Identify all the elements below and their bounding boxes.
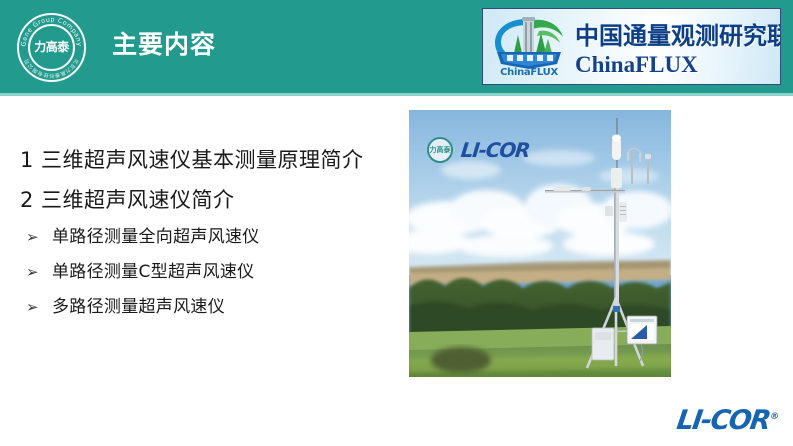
outline-item-3: ➢单路径测量全向超声风速仪 xyxy=(20,220,400,255)
arrow-bullet-icon: ➢ xyxy=(26,290,52,325)
chinaflux-banner: ChinaFLUX 中国通量观测研究联盟 ChinaFLUX xyxy=(482,8,781,85)
page-title: 主要内容 xyxy=(112,29,216,61)
chinaflux-chinese-title: 中国通量观测研究联盟 xyxy=(575,16,781,51)
outline-item-5: ➢多路径测量超声风速仪 xyxy=(20,290,400,325)
photo-licor-wordmark: LI-COR xyxy=(460,138,531,162)
header-underline xyxy=(0,93,793,96)
flux-tower-photo: 力高泰 LI-COR xyxy=(409,110,671,377)
outline-item-4-label: 单路径测量C型超声风速仪 xyxy=(52,262,254,282)
arrow-bullet-icon: ➢ xyxy=(26,255,52,290)
chinaflux-mark-label: ChinaFLUX xyxy=(487,67,571,78)
outline-item-4: ➢单路径测量C型超声风速仪 xyxy=(20,255,400,290)
outline-item-1: 1 三维超声风速仪基本测量原理简介 xyxy=(20,140,400,180)
seal-center-label: 力高泰 xyxy=(17,40,86,54)
licor-registered-mark: ® xyxy=(769,412,779,422)
photo-company-seal-icon: 力高泰 xyxy=(427,137,453,163)
photo-seal-label: 力高泰 xyxy=(429,146,451,154)
licor-logo-text: LI-COR xyxy=(675,405,772,436)
outline-list: 1 三维超声风速仪基本测量原理简介 2 三维超声风速仪简介 ➢单路径测量全向超声… xyxy=(20,140,400,325)
company-seal-icon: Gene Group Company 北京力高泰科技有限公司 力高泰 xyxy=(17,13,86,82)
chinaflux-english-title: ChinaFLUX xyxy=(575,52,698,78)
outline-item-5-label: 多路径测量超声风速仪 xyxy=(52,297,225,317)
svg-text:北京力高泰科技有限公司: 北京力高泰科技有限公司 xyxy=(23,57,81,80)
outline-item-2: 2 三维超声风速仪简介 xyxy=(20,180,400,220)
outline-item-3-label: 单路径测量全向超声风速仪 xyxy=(52,227,260,247)
arrow-bullet-icon: ➢ xyxy=(26,220,52,255)
licor-logo: LI-COR® xyxy=(675,405,781,436)
chinaflux-logo-icon: ChinaFLUX xyxy=(487,11,571,84)
